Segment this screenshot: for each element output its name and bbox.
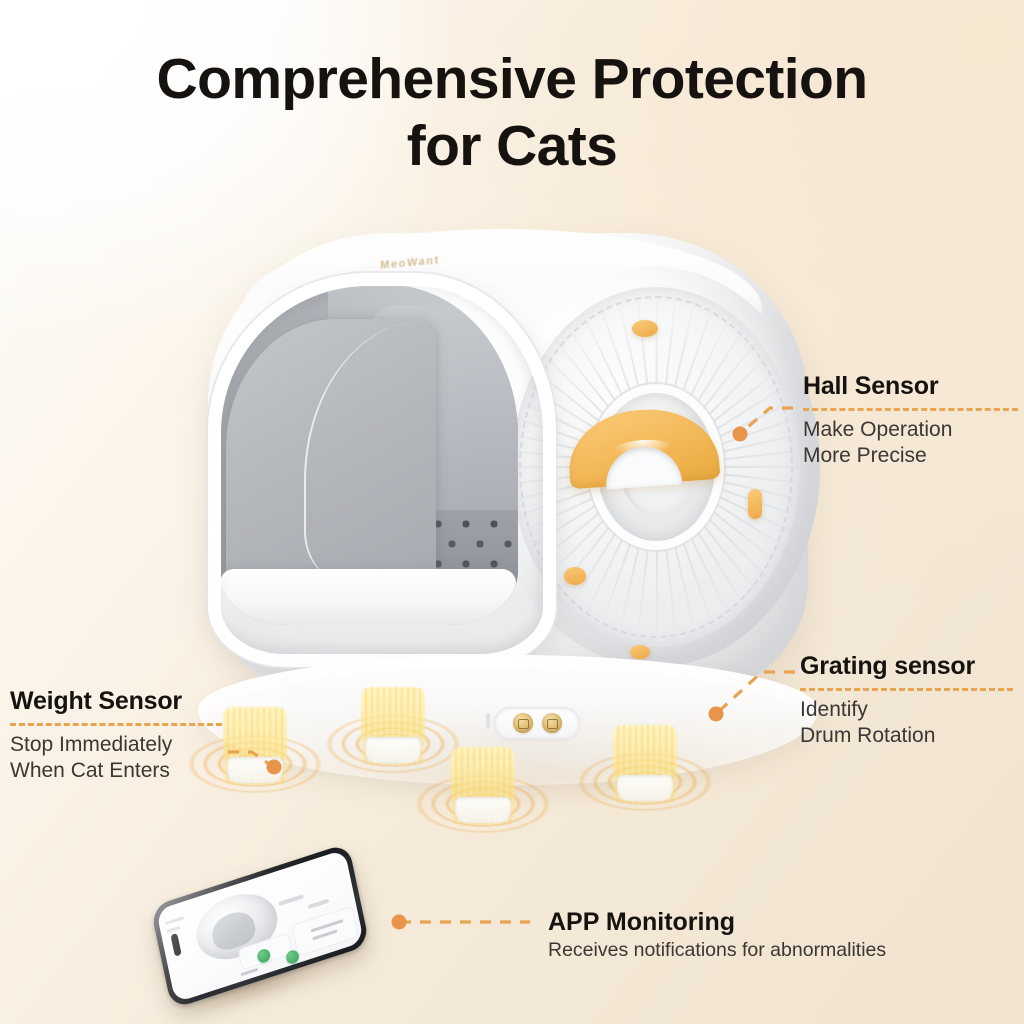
clean-button[interactable] [542,713,562,733]
infographic-canvas: Comprehensive Protection for Cats MeoWan… [0,0,1024,1024]
weight-sensor-3 [408,745,558,837]
callout-description-line-2: More Precise [803,443,1018,469]
app-controls-card[interactable] [291,905,359,956]
weight-sensor-foot [455,797,511,823]
weight-sensor-foot [617,775,673,801]
app-connector-dot [392,915,407,930]
callout-description-line-1: Make Operation [803,417,1018,443]
entrance-rim [208,273,556,667]
callout-heading: APP Monitoring [548,908,988,937]
callout-description: Make Operation More Precise [803,417,1018,470]
dynamic-island [170,933,181,957]
callout-divider [803,408,1018,411]
grating-sensor-marker-bottom [630,645,650,659]
callout-divider [800,688,1013,691]
callout-description-line-1: Identify [800,697,1018,723]
callout-hall-sensor: Hall Sensor Make Operation More Precise [803,372,1018,470]
callout-heading: Weight Sensor [10,687,222,716]
title-line-1: Comprehensive Protection [157,47,868,111]
grating-sensor-marker-left [564,567,586,585]
product-illustration: MeoWant [150,215,870,855]
app-text-line [165,916,185,925]
callout-description-line-2: Drum Rotation [800,723,1018,749]
callout-grating-sensor: Grating sensor Identify Drum Rotation [800,652,1018,750]
callout-weight-sensor: Weight Sensor Stop Immediately When Cat … [10,687,222,785]
callout-description-line-2: When Cat Enters [10,758,222,784]
control-button-panel[interactable] [494,707,580,739]
callout-heading: Hall Sensor [803,372,1018,401]
power-button[interactable] [513,713,533,733]
callout-description: Stop Immediately When Cat Enters [10,732,222,785]
weight-sensor-foot [227,757,283,783]
grating-sensor-marker-right [748,489,762,519]
app-phone-mockup [128,862,378,1024]
callout-heading: Grating sensor [800,652,1018,681]
app-text-line [307,899,329,910]
title-line-2: for Cats [0,113,1024,180]
callout-description: Receives notifications for abnormalities [548,939,988,962]
weight-sensor-4 [570,723,720,815]
callout-app-monitoring: APP Monitoring Receives notifications fo… [548,908,988,962]
callout-description: Identify Drum Rotation [800,697,1018,750]
app-text-line [166,926,180,933]
callout-description-line-1: Stop Immediately [10,732,222,758]
callout-divider [10,723,222,726]
grating-sensor-marker-top [632,320,658,337]
status-led [486,713,490,729]
page-title: Comprehensive Protection for Cats [0,46,1024,181]
app-text-line [278,894,304,906]
